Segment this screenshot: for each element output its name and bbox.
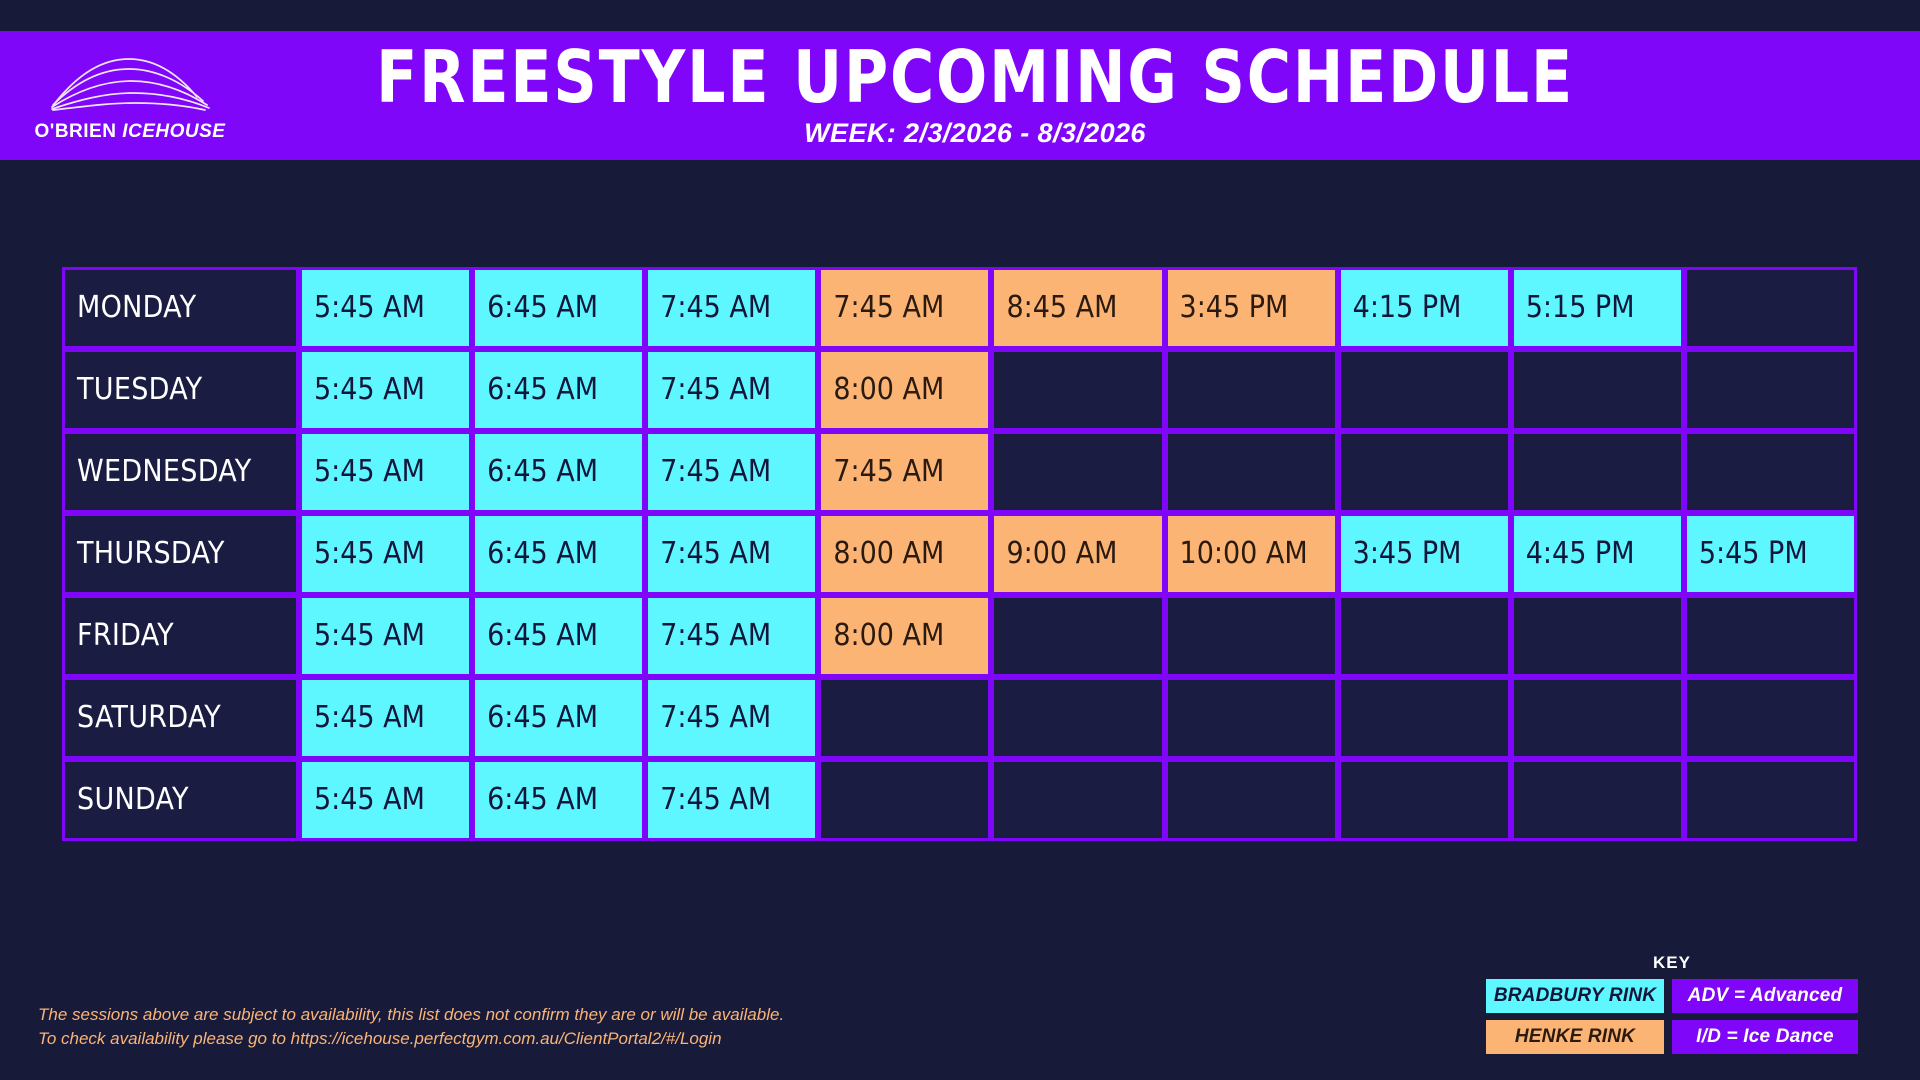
schedule-table: MONDAY5:45 AM6:45 AM7:45 AM7:45 AM8:45 A… xyxy=(62,267,1857,841)
empty-slot-cell xyxy=(991,759,1164,841)
session-slot-cell[interactable]: 6:45 AM xyxy=(472,267,645,349)
page-title: FREESTYLE UPCOMING SCHEDULE xyxy=(376,42,1574,113)
day-label-cell: WEDNESDAY xyxy=(62,431,299,513)
schedule-page: O'BRIEN ICEHOUSE FREESTYLE UPCOMING SCHE… xyxy=(0,0,1920,1080)
empty-slot-cell xyxy=(1684,349,1857,431)
day-label-cell: SUNDAY xyxy=(62,759,299,841)
schedule-row: TUESDAY5:45 AM6:45 AM7:45 AM8:00 AM xyxy=(62,349,1857,431)
session-slot-cell[interactable]: 6:45 AM xyxy=(472,513,645,595)
schedule-row: SATURDAY5:45 AM6:45 AM7:45 AM xyxy=(62,677,1857,759)
schedule-row: FRIDAY5:45 AM6:45 AM7:45 AM8:00 AM xyxy=(62,595,1857,677)
legend-chip: HENKE RINK xyxy=(1486,1020,1664,1054)
schedule-table-body: MONDAY5:45 AM6:45 AM7:45 AM7:45 AM8:45 A… xyxy=(62,267,1857,841)
page-header: O'BRIEN ICEHOUSE FREESTYLE UPCOMING SCHE… xyxy=(0,31,1920,160)
empty-slot-cell xyxy=(991,431,1164,513)
empty-slot-cell xyxy=(1338,595,1511,677)
empty-slot-cell xyxy=(1165,431,1338,513)
legend-chip: ADV = Advanced xyxy=(1672,979,1858,1013)
disclaimer-line-2: To check availability please go to https… xyxy=(38,1027,784,1052)
session-slot-cell[interactable]: 7:45 AM xyxy=(645,677,818,759)
session-slot-cell[interactable]: 5:45 AM xyxy=(299,677,472,759)
empty-slot-cell xyxy=(1511,595,1684,677)
empty-slot-cell xyxy=(1165,349,1338,431)
session-slot-cell[interactable]: 3:45 PM xyxy=(1338,513,1511,595)
session-slot-cell[interactable]: 7:45 AM xyxy=(818,267,991,349)
session-slot-cell[interactable]: 5:15 PM xyxy=(1511,267,1684,349)
legend-key: KEY BRADBURY RINKADV = AdvancedHENKE RIN… xyxy=(1486,953,1858,1054)
empty-slot-cell xyxy=(1338,759,1511,841)
session-slot-cell[interactable]: 6:45 AM xyxy=(472,431,645,513)
brand-block: O'BRIEN ICEHOUSE xyxy=(0,31,260,160)
day-label-cell: FRIDAY xyxy=(62,595,299,677)
session-slot-cell[interactable]: 5:45 AM xyxy=(299,349,472,431)
session-slot-cell[interactable]: 7:45 AM xyxy=(645,759,818,841)
brand-name-main: O'BRIEN xyxy=(35,121,123,142)
session-slot-cell[interactable]: 4:15 PM xyxy=(1338,267,1511,349)
brand-name: O'BRIEN ICEHOUSE xyxy=(35,121,226,143)
session-slot-cell[interactable]: 9:00 AM xyxy=(991,513,1164,595)
session-slot-cell[interactable]: 5:45 AM xyxy=(299,431,472,513)
empty-slot-cell xyxy=(1684,267,1857,349)
empty-slot-cell xyxy=(1511,349,1684,431)
legend-chip: BRADBURY RINK xyxy=(1486,979,1664,1013)
session-slot-cell[interactable]: 5:45 AM xyxy=(299,595,472,677)
brand-name-italic: ICEHOUSE xyxy=(122,121,225,142)
session-slot-cell[interactable]: 7:45 AM xyxy=(645,595,818,677)
session-slot-cell[interactable]: 5:45 AM xyxy=(299,759,472,841)
empty-slot-cell xyxy=(1165,759,1338,841)
session-slot-cell[interactable]: 7:45 AM xyxy=(645,349,818,431)
day-label-cell: TUESDAY xyxy=(62,349,299,431)
session-slot-cell[interactable]: 8:00 AM xyxy=(818,349,991,431)
session-slot-cell[interactable]: 5:45 AM xyxy=(299,267,472,349)
legend-chip-grid: BRADBURY RINKADV = AdvancedHENKE RINKI/D… xyxy=(1486,979,1858,1054)
empty-slot-cell xyxy=(1338,677,1511,759)
empty-slot-cell xyxy=(818,759,991,841)
session-slot-cell[interactable]: 8:45 AM xyxy=(991,267,1164,349)
schedule-row: MONDAY5:45 AM6:45 AM7:45 AM7:45 AM8:45 A… xyxy=(62,267,1857,349)
empty-slot-cell xyxy=(1684,431,1857,513)
header-center: FREESTYLE UPCOMING SCHEDULE WEEK: 2/3/20… xyxy=(260,31,1920,160)
empty-slot-cell xyxy=(991,677,1164,759)
schedule-row: SUNDAY5:45 AM6:45 AM7:45 AM xyxy=(62,759,1857,841)
schedule-row: THURSDAY5:45 AM6:45 AM7:45 AM8:00 AM9:00… xyxy=(62,513,1857,595)
session-slot-cell[interactable]: 6:45 AM xyxy=(472,759,645,841)
session-slot-cell[interactable]: 5:45 PM xyxy=(1684,513,1857,595)
session-slot-cell[interactable]: 4:45 PM xyxy=(1511,513,1684,595)
empty-slot-cell xyxy=(1684,759,1857,841)
session-slot-cell[interactable]: 6:45 AM xyxy=(472,677,645,759)
empty-slot-cell xyxy=(818,677,991,759)
empty-slot-cell xyxy=(1511,677,1684,759)
empty-slot-cell xyxy=(1684,595,1857,677)
day-label-cell: SATURDAY xyxy=(62,677,299,759)
disclaimer-line-1: The sessions above are subject to availa… xyxy=(38,1003,784,1028)
session-slot-cell[interactable]: 3:45 PM xyxy=(1165,267,1338,349)
day-label-cell: THURSDAY xyxy=(62,513,299,595)
session-slot-cell[interactable]: 7:45 AM xyxy=(645,267,818,349)
empty-slot-cell xyxy=(1684,677,1857,759)
empty-slot-cell xyxy=(1511,759,1684,841)
session-slot-cell[interactable]: 7:45 AM xyxy=(818,431,991,513)
session-slot-cell[interactable]: 10:00 AM xyxy=(1165,513,1338,595)
day-label-cell: MONDAY xyxy=(62,267,299,349)
schedule-row: WEDNESDAY5:45 AM6:45 AM7:45 AM7:45 AM xyxy=(62,431,1857,513)
empty-slot-cell xyxy=(1165,595,1338,677)
session-slot-cell[interactable]: 8:00 AM xyxy=(818,513,991,595)
session-slot-cell[interactable]: 7:45 AM xyxy=(645,431,818,513)
empty-slot-cell xyxy=(991,595,1164,677)
session-slot-cell[interactable]: 7:45 AM xyxy=(645,513,818,595)
legend-title: KEY xyxy=(1486,953,1858,973)
legend-chip: I/D = Ice Dance xyxy=(1672,1020,1858,1054)
empty-slot-cell xyxy=(1511,431,1684,513)
schedule-table-wrapper: MONDAY5:45 AM6:45 AM7:45 AM7:45 AM8:45 A… xyxy=(62,267,1857,841)
icehouse-arc-logo xyxy=(45,53,215,115)
session-slot-cell[interactable]: 8:00 AM xyxy=(818,595,991,677)
disclaimer-footer: The sessions above are subject to availa… xyxy=(38,1003,784,1052)
session-slot-cell[interactable]: 6:45 AM xyxy=(472,595,645,677)
session-slot-cell[interactable]: 5:45 AM xyxy=(299,513,472,595)
empty-slot-cell xyxy=(991,349,1164,431)
week-range-subtitle: WEEK: 2/3/2026 - 8/3/2026 xyxy=(804,118,1146,149)
empty-slot-cell xyxy=(1338,431,1511,513)
empty-slot-cell xyxy=(1165,677,1338,759)
empty-slot-cell xyxy=(1338,349,1511,431)
session-slot-cell[interactable]: 6:45 AM xyxy=(472,349,645,431)
